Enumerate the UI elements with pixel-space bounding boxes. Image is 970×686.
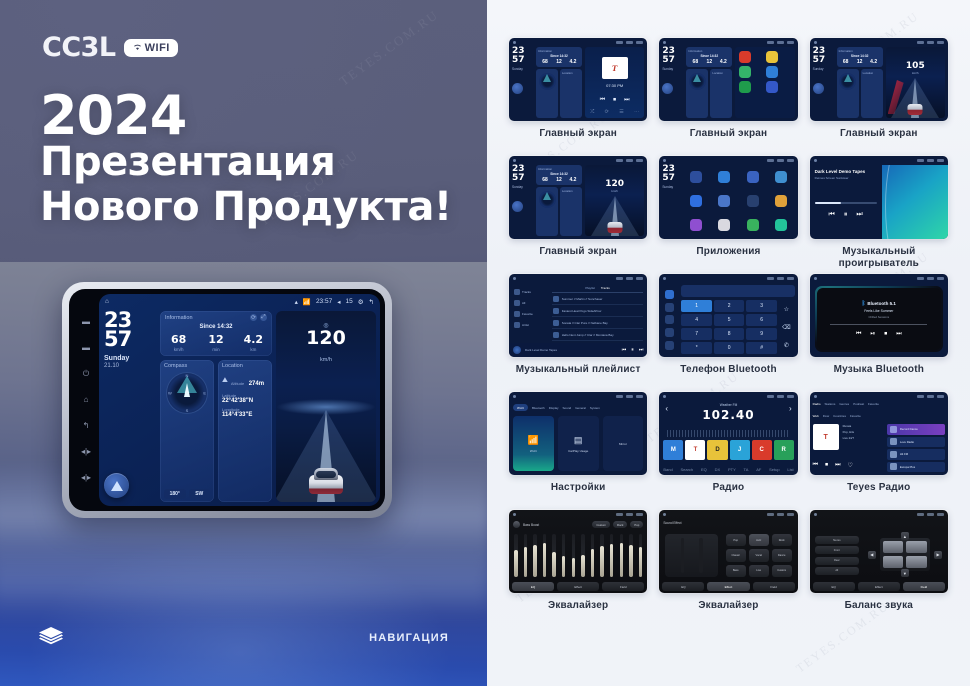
equalizer-band[interactable]: [639, 534, 643, 577]
effect-button[interactable]: Pop: [726, 534, 746, 546]
thumbnail-bt-music[interactable]: ᛒ Bluetooth 5.1 Feels Like Summer Chille…: [810, 274, 948, 357]
next-icon[interactable]: ⏭: [624, 97, 629, 104]
footer-effect[interactable]: Effect: [858, 582, 900, 591]
navigation-arrow-icon[interactable]: [104, 473, 129, 498]
next-icon[interactable]: ⏭: [835, 462, 840, 469]
gallery-item[interactable]: 2357Sunday: [659, 156, 797, 270]
preset-button[interactable]: Rock: [613, 521, 627, 528]
altitude-value: 274m: [249, 381, 264, 387]
thumbnail-equalizer-effects[interactable]: Sound Effect Pop Jazz Rock Classic Vocal…: [659, 510, 797, 593]
gallery-item[interactable]: 1 2 3 4 5 6 7 8 9 * 0 # ☆: [659, 274, 797, 388]
app-kinopoisk[interactable]: [711, 214, 737, 236]
app-maps[interactable]: [739, 214, 765, 236]
frequency-scale[interactable]: [667, 430, 789, 437]
band-button[interactable]: Band: [663, 467, 672, 472]
effect-button[interactable]: Vocal: [749, 549, 769, 561]
gallery-caption: Главный экран: [840, 128, 918, 152]
dial-key[interactable]: *: [681, 342, 711, 354]
mini-stat: 4.2: [566, 59, 580, 65]
favorite-icon[interactable]: ♡: [847, 462, 852, 469]
bt-music-card: ᛒ Bluetooth 5.1 Feels Like Summer Chille…: [815, 286, 943, 352]
mini-info-title: Information: [538, 49, 580, 53]
gallery-item[interactable]: Radio Stations Genres Podcast Favorite W…: [810, 392, 948, 506]
gallery-item[interactable]: Dark Level Demo Tapes Reimes Screen Sunl…: [810, 156, 948, 270]
thumbnail-home-apps[interactable]: 2357Sunday InformationSince 14:3268124.2…: [659, 38, 797, 121]
preset[interactable]: D: [707, 440, 727, 460]
progress-bar[interactable]: [815, 202, 877, 204]
equalizer-band-fill: [533, 545, 537, 577]
list-item[interactable]: Record Dance: [887, 424, 945, 435]
equalizer-band[interactable]: [543, 534, 547, 577]
effect-button[interactable]: Classic: [726, 549, 746, 561]
connection-status: [681, 285, 794, 297]
mini-location[interactable]: Location: [560, 69, 582, 118]
radio-display: Weather FM 102.40: [659, 403, 797, 422]
shuffle-icon[interactable]: ⤮: [590, 109, 594, 115]
footer-eq[interactable]: EQ: [512, 582, 554, 591]
equalizer-band[interactable]: [562, 534, 566, 577]
stop-icon[interactable]: ⏹: [613, 97, 616, 104]
teyes-radio-subtabs[interactable]: Web Flow Countries Favorite: [813, 414, 945, 418]
app-camera[interactable]: [711, 190, 737, 212]
prev-icon[interactable]: ⏮: [600, 97, 605, 104]
table-row[interactable]: Hello Next Jump // Clar // Montana Bay: [552, 329, 644, 341]
mini-drive-view[interactable]: 120 km/h: [585, 165, 644, 236]
power-icon[interactable]: ⏻: [83, 370, 89, 378]
clock-day: Sunday: [104, 355, 156, 362]
list-item[interactable]: Artist: [512, 319, 545, 330]
pause-icon[interactable]: ⏸: [844, 211, 848, 219]
preset-button[interactable]: Front: [815, 546, 859, 554]
subtab[interactable]: Favorite: [850, 414, 861, 418]
mini-compass[interactable]: [536, 69, 558, 118]
gallery-item[interactable]: Stereo Front Rear All ▲ ▼: [810, 510, 948, 624]
ta-button[interactable]: TA: [744, 467, 749, 472]
gallery-caption: Эквалайзер: [698, 600, 758, 624]
dashboard-highlight-2: [0, 548, 487, 618]
track-title: Feels Like Summer: [864, 309, 893, 313]
effect-buttons[interactable]: Pop Jazz Rock Classic Vocal Dance Bass L…: [726, 534, 792, 577]
preset[interactable]: C: [752, 440, 772, 460]
preset-button[interactable]: All: [815, 567, 859, 575]
settings-tabs[interactable]: Wi-Fi Bluetooth Display Sound General Sy…: [513, 404, 643, 411]
information-card[interactable]: Information ⟳ ⤢ Since 14:32 68: [160, 311, 272, 356]
home-icon[interactable]: ⌂: [105, 298, 109, 305]
settings-card-wifi[interactable]: 📶 Wi-Fi: [513, 416, 554, 471]
table-row[interactable]: Sonata // Clar Pure // Nelbane Bay: [552, 317, 644, 329]
balance-up-icon[interactable]: ▲: [901, 532, 909, 540]
playlist-tabs[interactable]: Playlist Tracks: [552, 286, 644, 293]
preset-button[interactable]: Pop: [630, 521, 643, 528]
equalizer-band[interactable]: [610, 534, 614, 577]
equalizer-band-fill: [543, 543, 547, 577]
back-icon[interactable]: ↰: [83, 422, 90, 430]
stat-speed: 68 km/h: [160, 333, 197, 352]
widget-column: Information ⟳ ⤢ Since 14:32 68: [160, 311, 272, 502]
title-line-2: Нового Продукта!: [40, 185, 470, 230]
expand-icon[interactable]: ⤢: [260, 314, 267, 321]
thumbnail-home-drive-red[interactable]: 2357Sunday InformationSince 14:3268124.2…: [810, 38, 948, 121]
equalizer-band[interactable]: [581, 534, 585, 577]
subtab[interactable]: Flow: [823, 414, 829, 418]
fader[interactable]: [699, 538, 703, 572]
tab-display[interactable]: Display: [549, 404, 559, 411]
prev-icon[interactable]: ⏮: [829, 211, 835, 219]
setup-button[interactable]: Setup: [769, 467, 779, 472]
presentation-slide: TEYES.COM.RU TEYES.COM.RU TEYES.COM.RU T…: [0, 0, 970, 686]
mini-location[interactable]: Location: [560, 187, 582, 236]
app-bluetooth-music[interactable]: [739, 166, 765, 188]
navigation-arrow-icon[interactable]: [512, 201, 523, 212]
app-equalizer[interactable]: [739, 190, 765, 212]
phone-sidebar[interactable]: [659, 283, 680, 357]
effect-button[interactable]: Jazz: [749, 534, 769, 546]
equalizer-footer[interactable]: EQ Effect Field: [813, 582, 945, 591]
thumbnail-home-media[interactable]: 2357Sunday InformationSince 14:3268124.2…: [509, 38, 647, 121]
gallery-item[interactable]: 2357Sunday InformationSince 14:3268124.2…: [810, 38, 948, 152]
volume-up-icon[interactable]: ◂|▸: [81, 474, 91, 482]
equalizer-band[interactable]: [514, 534, 518, 577]
list-item[interactable]: Favorite: [512, 308, 545, 319]
dial-key[interactable]: 3: [746, 300, 777, 312]
balance-right-icon[interactable]: ▶: [934, 551, 942, 559]
gallery-item[interactable]: Sound Effect Pop Jazz Rock Classic Vocal…: [659, 510, 797, 624]
equalizer-bands[interactable]: [514, 534, 642, 577]
table-row[interactable]: Fastest Heat Pogo SideAPow: [552, 305, 644, 317]
list-item[interactable]: Hit FM: [887, 449, 945, 460]
tab-wifi[interactable]: Wi-Fi: [513, 404, 528, 411]
gallery-caption: Teyes Радио: [847, 482, 910, 506]
gallery-caption: Музыка Bluetooth: [834, 364, 924, 388]
gallery-item[interactable]: Tracks All Favorite Artist Playlist Trac…: [509, 274, 647, 388]
app-icon-youtube[interactable]: [739, 51, 751, 63]
gallery-item[interactable]: Weather FM 102.40 ‹ › M T D J C R: [659, 392, 797, 506]
list-item[interactable]: Europa Plus: [887, 462, 945, 473]
equalizer-presets[interactable]: Custom Rock Pop: [592, 521, 643, 528]
dial-key[interactable]: #: [746, 342, 777, 354]
pty-button[interactable]: PTY: [728, 467, 736, 472]
equalizer-band-fill: [610, 544, 614, 577]
balance-pad[interactable]: ▲ ▼ ◀ ▶: [868, 532, 942, 577]
eq-button[interactable]: EQ: [701, 467, 707, 472]
location-card[interactable]: Location ⛰ Altitude 274m: [218, 360, 272, 502]
head-unit-screen[interactable]: ⌂ ▴ 📶 23:57 ◂ 15 ⚙ ↰ 23: [99, 294, 380, 506]
tab[interactable]: Tracks: [601, 286, 610, 290]
backspace-icon[interactable]: ⌫: [782, 324, 790, 331]
app-chrome[interactable]: [683, 190, 709, 212]
dial-key[interactable]: 7: [681, 328, 711, 340]
navigation-arrow-icon[interactable]: [512, 83, 523, 94]
equalizer-band[interactable]: [572, 534, 576, 577]
list-button[interactable]: List: [787, 467, 793, 472]
settings-card-mirror[interactable]: Mirror: [603, 416, 644, 471]
seat-rear-right: [906, 556, 927, 568]
equalizer-footer[interactable]: EQ Effect Field: [512, 582, 644, 591]
app-bluetooth[interactable]: [711, 166, 737, 188]
list-item[interactable]: All: [512, 297, 545, 308]
subtab[interactable]: Web: [813, 414, 819, 418]
tab-general[interactable]: General: [575, 404, 586, 411]
af-button[interactable]: AF: [756, 467, 761, 472]
dial-key[interactable]: 6: [746, 314, 777, 326]
dialpad-icon[interactable]: [665, 290, 674, 299]
equalizer-band[interactable]: [591, 534, 595, 577]
call-icon[interactable]: ✆: [784, 342, 789, 349]
preset[interactable]: R: [774, 440, 794, 460]
tab-sound[interactable]: Sound: [563, 404, 572, 411]
app-icon-maps[interactable]: [739, 66, 751, 78]
tab[interactable]: Stations: [825, 402, 836, 406]
trip-stats: 68 km/h 12 min 4.2 km: [160, 333, 272, 352]
progress-bar[interactable]: [830, 324, 927, 325]
stop-icon[interactable]: ⏹: [884, 331, 887, 338]
equalizer-band[interactable]: [600, 534, 604, 577]
longitude-value: 114°4'33"E: [222, 412, 268, 418]
subtab[interactable]: Countries: [833, 414, 846, 418]
seat-front-left: [883, 541, 904, 553]
dialpad[interactable]: 1 2 3 4 5 6 7 8 9 * 0 #: [681, 300, 776, 354]
compass-needle-icon: [184, 383, 190, 397]
stop-icon[interactable]: ⏹: [825, 462, 828, 469]
fader-panel[interactable]: [665, 534, 718, 577]
refresh-icon[interactable]: ⟳: [250, 314, 257, 321]
drive-view[interactable]: ◎ 120 km/h: [276, 311, 376, 502]
prev-station-icon[interactable]: ‹: [665, 404, 668, 413]
app-icon-play[interactable]: [739, 81, 751, 93]
tab[interactable]: Favorite: [868, 402, 879, 406]
history-icon[interactable]: [665, 328, 674, 337]
thumbnail-teyes-radio[interactable]: Radio Stations Genres Podcast Favorite W…: [810, 392, 948, 475]
back-icon[interactable]: ↰: [369, 298, 374, 306]
equalizer-band[interactable]: [524, 534, 528, 577]
wifi-icon: 📶: [528, 435, 539, 446]
app-grid[interactable]: [683, 166, 793, 236]
prev-icon[interactable]: ⏮: [856, 331, 861, 338]
eject-icon[interactable]: ▬: [82, 344, 90, 352]
app-calculator[interactable]: [768, 166, 794, 188]
preset[interactable]: M: [663, 440, 683, 460]
radio-toolbar[interactable]: Band Search EQ DX PTY TA AF Setup List: [663, 467, 793, 472]
gallery-caption: Приложения: [696, 246, 760, 270]
gallery-caption: Главный экран: [690, 128, 768, 152]
play-pause-icon[interactable]: ⏯: [870, 331, 875, 338]
effect-button[interactable]: Bass: [726, 565, 746, 577]
app-wifi[interactable]: [683, 166, 709, 188]
mini-location[interactable]: Location: [710, 69, 732, 118]
balance-left-icon[interactable]: ◀: [868, 551, 876, 559]
mini-compass[interactable]: [536, 187, 558, 236]
dx-button[interactable]: DX: [715, 467, 721, 472]
effect-button[interactable]: Custom: [772, 565, 792, 577]
thumbnail-music-playlist[interactable]: Tracks All Favorite Artist Playlist Trac…: [509, 274, 647, 357]
footer-field[interactable]: Field: [903, 582, 945, 591]
mute-icon[interactable]: ▬: [82, 318, 90, 326]
dial-key[interactable]: 5: [714, 314, 744, 326]
footer-effect[interactable]: Effect: [557, 582, 599, 591]
equalizer-band[interactable]: [629, 534, 633, 577]
pause-icon[interactable]: ⏸: [631, 347, 634, 353]
dial-key[interactable]: 9: [746, 328, 777, 340]
effect-button[interactable]: Rock: [772, 534, 792, 546]
mini-location[interactable]: Location: [861, 69, 883, 118]
mini-since: Since 14:32: [538, 54, 580, 58]
app-icon-yandex[interactable]: [766, 51, 778, 63]
meta-country: Russia: [843, 424, 854, 428]
fader[interactable]: [681, 538, 685, 572]
prev-icon[interactable]: ⏮: [813, 462, 818, 469]
gallery-item[interactable]: 2357Sunday InformationSince 14:3268124.2…: [659, 38, 797, 152]
tab[interactable]: Radio: [813, 402, 821, 406]
gallery-item[interactable]: Wi-Fi Bluetooth Display Sound General Sy…: [509, 392, 647, 506]
home-icon[interactable]: ⌂: [84, 396, 89, 404]
dial-key[interactable]: 8: [714, 328, 744, 340]
footer-eq[interactable]: EQ: [813, 582, 855, 591]
effect-button[interactable]: Dance: [772, 549, 792, 561]
thumbnail-equalizer[interactable]: Bass Boost Custom Rock Pop EQ Effect Fie…: [509, 510, 647, 593]
thumbnail-bt-phone[interactable]: 1 2 3 4 5 6 7 8 9 * 0 # ☆: [659, 274, 797, 357]
wifi-badge-label: WIFI: [145, 42, 170, 54]
gear-icon[interactable]: ⚙: [358, 298, 364, 306]
teyes-radio-tabs[interactable]: Radio Stations Genres Podcast Favorite: [813, 402, 945, 406]
effect-button[interactable]: Live: [749, 565, 769, 577]
station-name: Weather FM: [659, 403, 797, 407]
gallery-caption: Радио: [713, 482, 745, 506]
equalizer-band-fill: [524, 547, 528, 577]
speed-unit: km/h: [320, 357, 332, 363]
speed-value: 120: [276, 329, 376, 348]
footer-field[interactable]: Field: [602, 582, 644, 591]
dial-key[interactable]: 4: [681, 314, 711, 326]
dial-key[interactable]: 2: [714, 300, 744, 312]
preset-button[interactable]: Custom: [592, 521, 610, 528]
now-playing-bar[interactable]: Dark Level Demo Tapes ⏮ ⏸ ⏭: [509, 343, 647, 357]
thumbnail-home-drive[interactable]: 2357Sunday InformationSince 14:3268124.2…: [509, 156, 647, 239]
equalizer-footer[interactable]: EQ Effect Field: [662, 582, 794, 591]
mini-drive-view[interactable]: 105 km/h: [886, 47, 945, 118]
car-3d-model: [908, 104, 923, 115]
clock-widget: 23 57 Sunday 21.10: [104, 311, 156, 502]
media-time: 07:30 PM: [585, 83, 644, 88]
tab-bluetooth[interactable]: Bluetooth: [532, 404, 545, 411]
volume-icon: ◂: [337, 298, 340, 306]
footer-field[interactable]: Field: [753, 582, 795, 591]
app-playstore[interactable]: [768, 214, 794, 236]
gallery-caption: Музыкальный проигрыватель: [810, 246, 948, 270]
next-icon[interactable]: ⏭: [896, 331, 901, 338]
preset-button[interactable]: Rear: [815, 557, 859, 565]
tab[interactable]: Genres: [839, 402, 849, 406]
mini-clock-day: Sunday: [512, 67, 533, 71]
equalizer-band[interactable]: [533, 534, 537, 577]
tab-system[interactable]: System: [590, 404, 600, 411]
gallery-item[interactable]: ᛒ Bluetooth 5.1 Feels Like Summer Chille…: [810, 274, 948, 388]
compass-card[interactable]: Compass N E S W: [160, 360, 214, 502]
seat-rear-left: [883, 556, 904, 568]
home-screen-body: 23 57 Sunday 21.10 Information: [99, 309, 380, 506]
search-button[interactable]: Search: [680, 467, 693, 472]
thumbnail-music-player[interactable]: Dark Level Demo Tapes Reimes Screen Sunl…: [810, 156, 948, 239]
track-artist: Chilled Sessions: [868, 315, 889, 319]
logo-text: CC3L: [42, 32, 116, 63]
playlist-main: Playlist Tracks Summer // Martin // Sunc…: [548, 283, 648, 343]
star-icon[interactable]: ☆: [784, 306, 789, 313]
gallery-item[interactable]: Bass Boost Custom Rock Pop EQ Effect Fie…: [509, 510, 647, 624]
list-item[interactable]: Tracks: [512, 286, 545, 297]
dial-key[interactable]: 0: [714, 342, 744, 354]
player-controls[interactable]: ⏮ ⏸ ⏭: [815, 211, 877, 219]
gear-icon[interactable]: [665, 341, 674, 350]
player-controls[interactable]: ⏮ ⏹ ⏭ ♡: [813, 462, 853, 469]
equalizer-band[interactable]: [620, 534, 624, 577]
footer-eq[interactable]: EQ: [662, 582, 704, 591]
navigation-label: НАВИГАЦИЯ: [369, 632, 449, 644]
mini-media-player[interactable]: T 07:30 PM ⏮⏹⏭ ⤮⟳☰⋯: [585, 47, 644, 118]
radio-presets[interactable]: M T D J C R: [663, 440, 793, 460]
table-row[interactable]: Summer // Martin // Sunchaser: [552, 293, 644, 305]
gallery-item[interactable]: 2357Sunday InformationSince 14:3268124.2…: [509, 156, 647, 270]
app-icon-music[interactable]: [766, 66, 778, 78]
dial-key[interactable]: 1: [681, 300, 711, 312]
wifi-badge: WIFI: [124, 39, 178, 57]
search-icon[interactable]: [665, 315, 674, 324]
app-icon-more[interactable]: [766, 81, 778, 93]
list-icon[interactable]: ☰: [619, 109, 623, 115]
balance-down-icon[interactable]: ▼: [901, 569, 909, 577]
footer-effect[interactable]: Effect: [707, 582, 749, 591]
mini-compass[interactable]: [686, 69, 708, 118]
station-list[interactable]: Record Dance Love Radio Hit FM Europa Pl…: [887, 424, 945, 472]
balance-presets[interactable]: Stereo Front Rear All: [815, 534, 859, 577]
thumbnail-radio[interactable]: Weather FM 102.40 ‹ › M T D J C R: [659, 392, 797, 475]
preset[interactable]: T: [685, 440, 705, 460]
preset[interactable]: J: [730, 440, 750, 460]
list-item[interactable]: Love Radio: [887, 437, 945, 448]
status-time: 23:57: [316, 298, 332, 305]
mini-compass[interactable]: [837, 69, 859, 118]
navigation-arrow-icon[interactable]: [662, 83, 673, 94]
repeat-icon[interactable]: ⟳: [605, 109, 609, 115]
preset-button[interactable]: Stereo: [815, 536, 859, 544]
more-icon[interactable]: ⋯: [634, 109, 639, 115]
volume-down-icon[interactable]: ◂|▸: [81, 448, 91, 456]
dial-actions[interactable]: ☆ ⌫ ✆: [778, 300, 795, 354]
player-controls[interactable]: ⏮ ⏯ ⏹ ⏭: [856, 331, 902, 338]
car-3d-model: [607, 222, 622, 233]
thumbnail-settings[interactable]: Wi-Fi Bluetooth Display Sound General Sy…: [509, 392, 647, 475]
prev-icon[interactable]: ⏮: [622, 347, 627, 353]
thumbnail-app-drawer[interactable]: 2357Sunday: [659, 156, 797, 239]
next-icon[interactable]: ⏭: [639, 347, 644, 353]
gallery-item[interactable]: 2357Sunday InformationSince 14:3268124.2…: [509, 38, 647, 152]
gallery-caption: Главный экран: [539, 246, 617, 270]
navigation-arrow-icon[interactable]: [813, 83, 824, 94]
visualizer: [882, 165, 948, 239]
next-icon[interactable]: ⏭: [856, 211, 862, 219]
app-filemanager[interactable]: [768, 190, 794, 212]
equalizer-band-fill: [639, 547, 643, 577]
tab[interactable]: Podcast: [853, 402, 864, 406]
contacts-icon[interactable]: [665, 303, 674, 312]
tab[interactable]: Playlist: [585, 286, 595, 290]
altitude-label: Altitude: [231, 381, 244, 386]
thumbnail-sound-balance[interactable]: Stereo Front Rear All ▲ ▼: [810, 510, 948, 593]
app-gallery[interactable]: [683, 214, 709, 236]
mini-app-shortcuts[interactable]: [735, 47, 794, 118]
equalizer-band[interactable]: [552, 534, 556, 577]
settings-card-carplay[interactable]: ▤ CarPlay Usage: [558, 416, 599, 471]
signal-icon: ▴: [295, 298, 298, 306]
next-station-icon[interactable]: ›: [789, 404, 792, 413]
